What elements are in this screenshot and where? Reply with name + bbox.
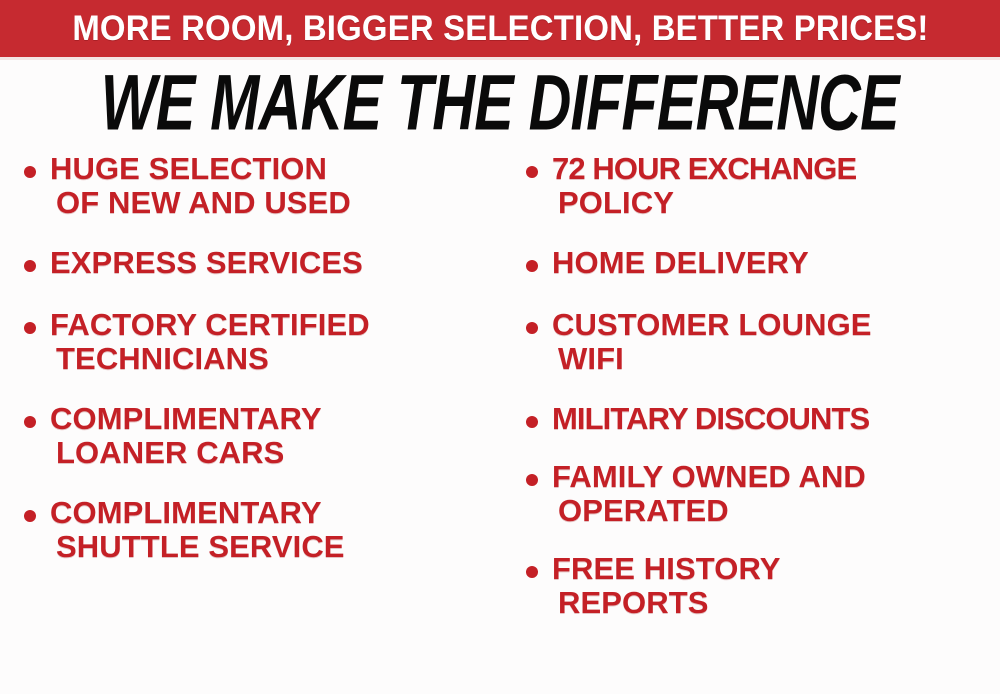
bullet-dot-icon bbox=[526, 322, 538, 334]
list-item-text: FAMILY OWNED AND OPERATED bbox=[552, 460, 1000, 528]
list-item-text: COMPLIMENTARY LOANER CARS bbox=[50, 402, 508, 470]
list-item-line2: REPORTS bbox=[558, 586, 1000, 620]
list-item-line1: FREE HISTORY bbox=[552, 551, 781, 586]
list-item-line2: WIFI bbox=[558, 342, 1000, 376]
list-item-text: COMPLIMENTARY SHUTTLE SERVICE bbox=[50, 496, 508, 564]
benefits-column-left: HUGE SELECTION OF NEW AND USED EXPRESS S… bbox=[16, 152, 508, 586]
list-item-text: CUSTOMER LOUNGE WIFI bbox=[552, 308, 1000, 376]
list-item: FAMILY OWNED AND OPERATED bbox=[518, 460, 1000, 528]
list-item-text: HOME DELIVERY bbox=[552, 246, 1000, 280]
list-item: MILITARY DISCOUNTS bbox=[518, 402, 1000, 436]
bullet-dot-icon bbox=[24, 260, 36, 272]
main-headline: WE MAKE THE DIFFERENCE bbox=[0, 63, 1000, 143]
list-item-line1: FACTORY CERTIFIED bbox=[50, 307, 370, 342]
list-item: HOME DELIVERY bbox=[518, 246, 1000, 280]
bullet-dot-icon bbox=[24, 322, 36, 334]
list-item-text: HUGE SELECTION OF NEW AND USED bbox=[50, 152, 508, 220]
list-item-text: 72 HOUR EXCHANGE POLICY bbox=[552, 152, 1000, 220]
list-item: 72 HOUR EXCHANGE POLICY bbox=[518, 152, 1000, 220]
benefits-column-right: 72 HOUR EXCHANGE POLICY HOME DELIVERY CU… bbox=[518, 152, 1000, 642]
list-item-line2: OPERATED bbox=[558, 494, 1000, 528]
list-item-line1: 72 HOUR EXCHANGE bbox=[552, 151, 856, 186]
list-item-line1: MILITARY DISCOUNTS bbox=[552, 401, 869, 436]
list-item: HUGE SELECTION OF NEW AND USED bbox=[16, 152, 508, 220]
list-item-line2: LOANER CARS bbox=[56, 436, 508, 470]
bullet-dot-icon bbox=[24, 416, 36, 428]
list-item-text: FREE HISTORY REPORTS bbox=[552, 552, 1000, 620]
list-item-line1: COMPLIMENTARY bbox=[50, 401, 322, 436]
list-item: FACTORY CERTIFIED TECHNICIANS bbox=[16, 308, 508, 376]
list-item-line2: SHUTTLE SERVICE bbox=[56, 530, 508, 564]
list-item-text: EXPRESS SERVICES bbox=[50, 246, 508, 280]
list-item-line2: POLICY bbox=[558, 186, 1000, 220]
list-item-text: FACTORY CERTIFIED TECHNICIANS bbox=[50, 308, 508, 376]
list-item: EXPRESS SERVICES bbox=[16, 246, 508, 280]
list-item-line1: EXPRESS SERVICES bbox=[50, 245, 363, 280]
bullet-dot-icon bbox=[24, 510, 36, 522]
main-headline-text: WE MAKE THE DIFFERENCE bbox=[101, 64, 899, 142]
banner-headline-text: MORE ROOM, BIGGER SELECTION, BETTER PRIC… bbox=[72, 11, 928, 46]
list-item: FREE HISTORY REPORTS bbox=[518, 552, 1000, 620]
list-item: CUSTOMER LOUNGE WIFI bbox=[518, 308, 1000, 376]
list-item-line1: HUGE SELECTION bbox=[50, 151, 327, 186]
bullet-dot-icon bbox=[24, 166, 36, 178]
list-item-line1: COMPLIMENTARY bbox=[50, 495, 322, 530]
bullet-dot-icon bbox=[526, 474, 538, 486]
bullet-dot-icon bbox=[526, 260, 538, 272]
bullet-dot-icon bbox=[526, 166, 538, 178]
top-banner: MORE ROOM, BIGGER SELECTION, BETTER PRIC… bbox=[0, 0, 1000, 57]
list-item-line1: CUSTOMER LOUNGE bbox=[552, 307, 872, 342]
list-item-line2: TECHNICIANS bbox=[56, 342, 508, 376]
list-item: COMPLIMENTARY LOANER CARS bbox=[16, 402, 508, 470]
list-item-line1: FAMILY OWNED AND bbox=[552, 459, 866, 494]
benefits-columns: HUGE SELECTION OF NEW AND USED EXPRESS S… bbox=[0, 152, 1000, 694]
bullet-dot-icon bbox=[526, 566, 538, 578]
list-item-line2: OF NEW AND USED bbox=[56, 186, 508, 220]
list-item-line1: HOME DELIVERY bbox=[552, 245, 809, 280]
list-item: COMPLIMENTARY SHUTTLE SERVICE bbox=[16, 496, 508, 564]
advertisement-poster: MORE ROOM, BIGGER SELECTION, BETTER PRIC… bbox=[0, 0, 1000, 694]
list-item-text: MILITARY DISCOUNTS bbox=[552, 402, 1000, 436]
bullet-dot-icon bbox=[526, 416, 538, 428]
